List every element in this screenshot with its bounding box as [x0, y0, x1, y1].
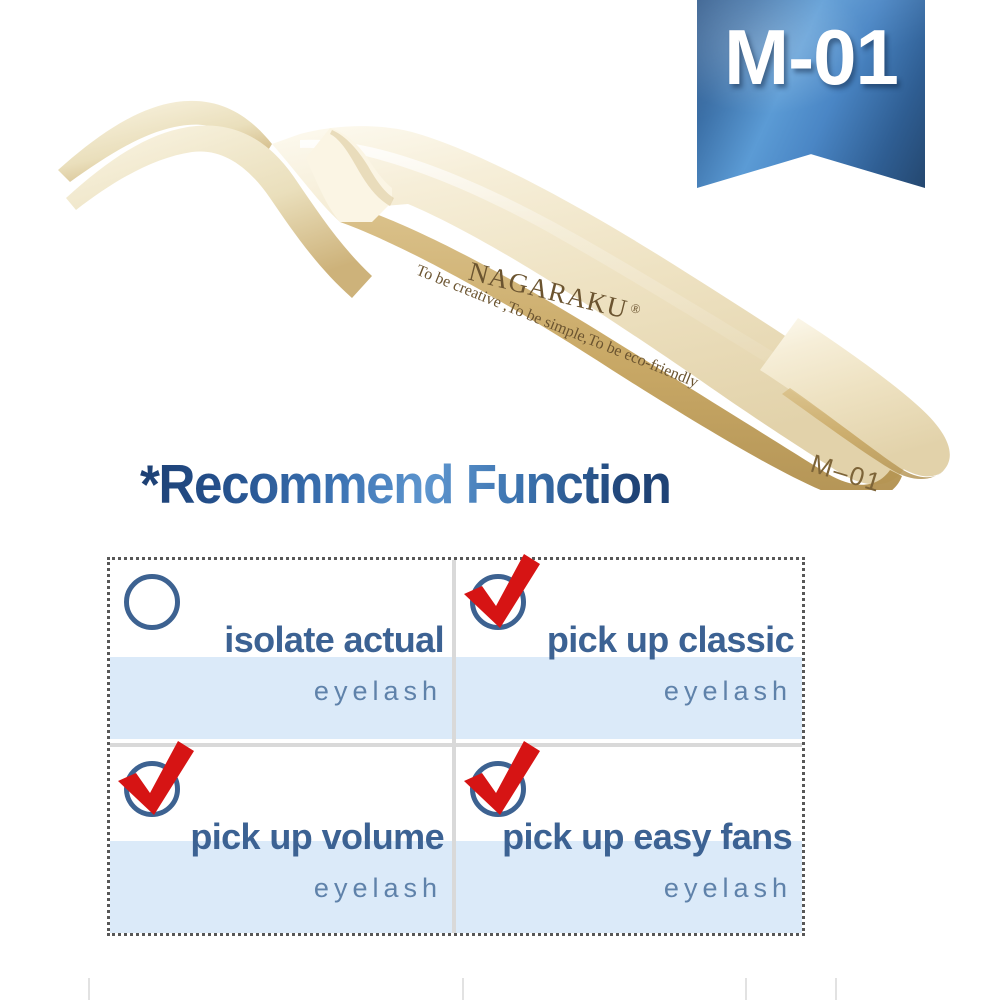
feature-cell-pick-up-classic[interactable]: pick up classic eyelash: [456, 560, 802, 747]
feature-subtitle: eyelash: [314, 678, 442, 705]
section-divider-tick: [462, 978, 464, 1000]
feature-subtitle: eyelash: [664, 875, 792, 902]
feature-subtitle: eyelash: [664, 678, 792, 705]
model-badge-label: M-01: [697, 18, 925, 96]
red-check-icon: [464, 753, 534, 823]
feature-grid: isolate actual eyelash pick up classic e…: [110, 560, 802, 933]
feature-title: isolate actual: [224, 622, 444, 658]
empty-circle-icon: [118, 566, 188, 636]
feature-cell-isolate-actual[interactable]: isolate actual eyelash: [110, 560, 456, 747]
section-divider-tick: [835, 978, 837, 1000]
feature-cell-pick-up-easy-fans[interactable]: pick up easy fans eyelash: [456, 747, 802, 934]
feature-title: pick up volume: [190, 819, 444, 855]
product-detail-page: NAGARAKU® To be creative ,To be simple,T…: [0, 0, 1000, 1000]
red-check-icon: [464, 566, 534, 636]
red-check-icon: [118, 753, 188, 823]
section-divider-tick: [88, 978, 90, 1000]
section-divider-tick: [745, 978, 747, 1000]
section-headline: *Recommend Function: [140, 457, 671, 512]
feature-subtitle: eyelash: [314, 875, 442, 902]
feature-cell-pick-up-volume[interactable]: pick up volume eyelash: [110, 747, 456, 934]
feature-title: pick up classic: [547, 622, 794, 658]
feature-title: pick up easy fans: [502, 819, 792, 855]
